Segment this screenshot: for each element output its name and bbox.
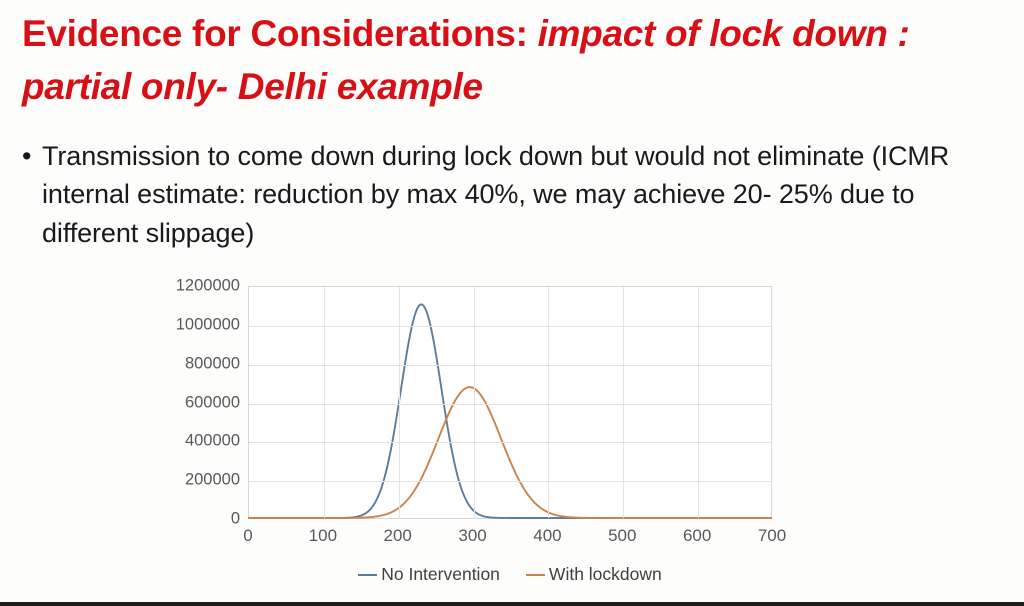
x-axis-tick-label: 600 xyxy=(683,526,711,546)
plot-area xyxy=(248,286,772,519)
y-axis-tick-label: 400000 xyxy=(140,432,240,451)
y-axis-tick-label: 1200000 xyxy=(140,277,240,296)
x-axis-tick-label: 700 xyxy=(758,526,786,546)
legend-label: No Intervention xyxy=(381,564,500,585)
legend-color-swatch xyxy=(358,574,377,576)
slide: Evidence for Considerations: impact of l… xyxy=(0,0,1024,606)
x-axis-tick-labels: 0100200300400500600700 xyxy=(248,526,772,552)
chart-legend: No InterventionWith lockdown xyxy=(248,564,772,585)
gridline-horizontal xyxy=(249,404,771,405)
curve-layer xyxy=(249,287,771,518)
bullet-paragraph: • Transmission to come down during lock … xyxy=(22,137,972,252)
gridline-vertical xyxy=(474,287,475,518)
gridline-horizontal xyxy=(249,481,771,482)
y-axis-tick-label: 200000 xyxy=(140,471,240,490)
y-axis-tick-label: 0 xyxy=(140,510,240,529)
gridline-vertical xyxy=(399,287,400,518)
x-axis-tick-label: 100 xyxy=(309,526,337,546)
gridline-horizontal xyxy=(249,442,771,443)
gridline-vertical xyxy=(698,287,699,518)
bullet-marker-icon: • xyxy=(22,137,42,175)
legend-item[interactable]: With lockdown xyxy=(526,564,662,585)
x-axis-tick-label: 300 xyxy=(458,526,486,546)
gridline-vertical xyxy=(548,287,549,518)
y-axis-tick-labels: 020000040000060000080000010000001200000 xyxy=(140,286,240,519)
legend-color-swatch xyxy=(526,574,545,576)
epidemic-curve-chart: 020000040000060000080000010000001200000 … xyxy=(140,268,840,598)
gridline-horizontal xyxy=(249,365,771,366)
gridline-horizontal xyxy=(249,326,771,327)
x-axis-tick-label: 400 xyxy=(533,526,561,546)
y-axis-tick-label: 600000 xyxy=(140,393,240,412)
x-axis-tick-label: 0 xyxy=(243,526,252,546)
gridline-vertical xyxy=(324,287,325,518)
bullet-text: Transmission to come down during lock do… xyxy=(42,137,972,252)
gridline-vertical xyxy=(623,287,624,518)
x-axis-tick-label: 500 xyxy=(608,526,636,546)
slide-bottom-band xyxy=(0,602,1024,606)
page-title: Evidence for Considerations: impact of l… xyxy=(22,8,982,113)
legend-item[interactable]: No Intervention xyxy=(358,564,500,585)
y-axis-tick-label: 1000000 xyxy=(140,315,240,334)
y-axis-tick-label: 800000 xyxy=(140,354,240,373)
x-axis-tick-label: 200 xyxy=(384,526,412,546)
series-line xyxy=(249,304,771,518)
title-plain-part: Evidence for Considerations: xyxy=(22,13,528,54)
legend-label: With lockdown xyxy=(549,564,662,585)
series-line xyxy=(249,387,771,518)
